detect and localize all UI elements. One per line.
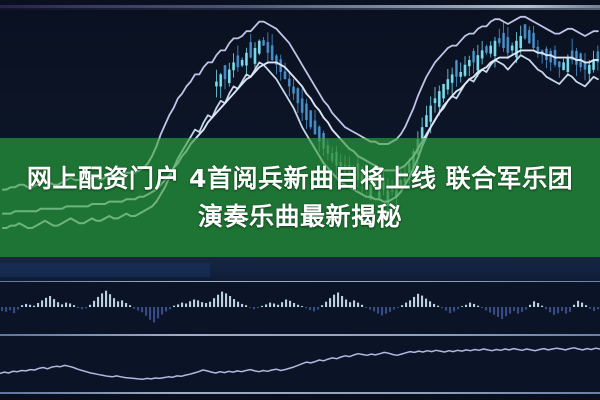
- headline-text: 网上配资门户 4首阅兵新曲目将上线 联合军乐团 演奏乐曲最新揭秘: [0, 160, 600, 236]
- mid-navy-band-highlight: [0, 263, 210, 277]
- macd-histogram: [0, 282, 600, 336]
- trend-panel-bottom-rule: [0, 392, 600, 394]
- chart-banner-image: 网上配资门户 4首阅兵新曲目将上线 联合军乐团 演奏乐曲最新揭秘: [0, 0, 600, 400]
- top-separator-line-secondary: [0, 8, 600, 10]
- macd-histogram-panel: [0, 282, 600, 336]
- trend-line-chart: [0, 336, 600, 394]
- trend-line-panel: [0, 336, 600, 394]
- headline-line-2: 演奏乐曲最新揭秘: [0, 198, 600, 236]
- headline-line-1: 网上配资门户 4首阅兵新曲目将上线 联合军乐团: [27, 164, 573, 193]
